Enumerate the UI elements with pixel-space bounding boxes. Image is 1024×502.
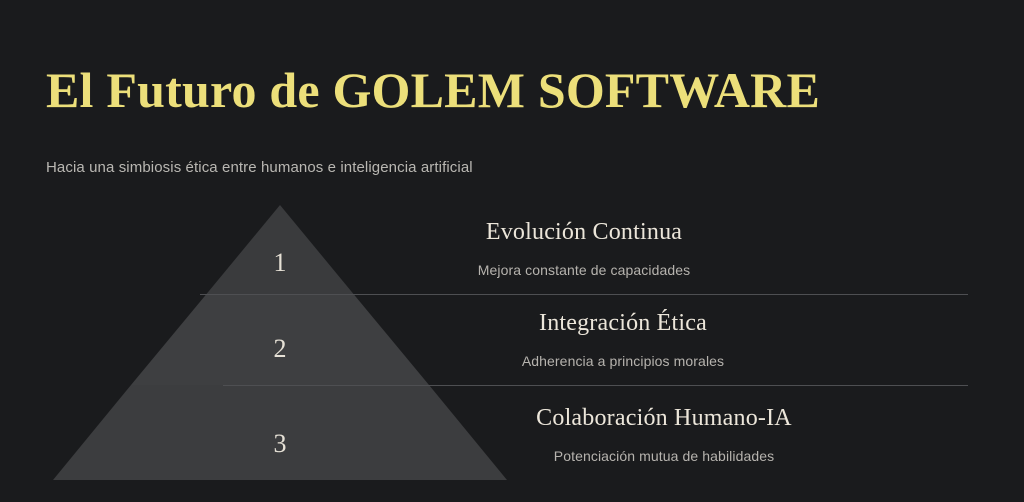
page-subtitle: Hacia una simbiosis ética entre humanos …	[46, 118, 966, 178]
pyramid-level-3-label: Colaboración Humano-IA	[360, 403, 968, 433]
pyramid-level-2-text: Integración Ética Adherencia a principio…	[278, 308, 968, 370]
pyramid-level-2-description: Adherencia a principios morales	[278, 338, 968, 370]
pyramid-diagram: 1 Evolución Continua Mejora constante de…	[0, 205, 1024, 480]
pyramid-level-1-description: Mejora constante de capacidades	[200, 247, 968, 279]
pyramid-level-3-number: 3	[260, 431, 300, 457]
pyramid-level-2-label: Integración Ética	[278, 308, 968, 338]
page-title: El Futuro de GOLEM SOFTWARE	[46, 62, 966, 118]
pyramid-level-3-text: Colaboración Humano-IA Potenciación mutu…	[360, 403, 968, 465]
slide-root: El Futuro de GOLEM SOFTWARE Hacia una si…	[0, 0, 1024, 502]
pyramid-level-1-text: Evolución Continua Mejora constante de c…	[200, 217, 968, 279]
pyramid-level-1-label: Evolución Continua	[200, 217, 968, 247]
slide-header: El Futuro de GOLEM SOFTWARE Hacia una si…	[46, 62, 966, 178]
pyramid-level-3-divider	[223, 385, 968, 386]
pyramid-level-2: 2 Integración Ética Adherencia a princip…	[0, 294, 1024, 385]
pyramid-level-1: 1 Evolución Continua Mejora constante de…	[0, 205, 1024, 294]
pyramid-level-2-divider	[200, 294, 968, 295]
pyramid-level-3-description: Potenciación mutua de habilidades	[360, 433, 968, 465]
pyramid-level-3: 3 Colaboración Humano-IA Potenciación mu…	[0, 385, 1024, 480]
